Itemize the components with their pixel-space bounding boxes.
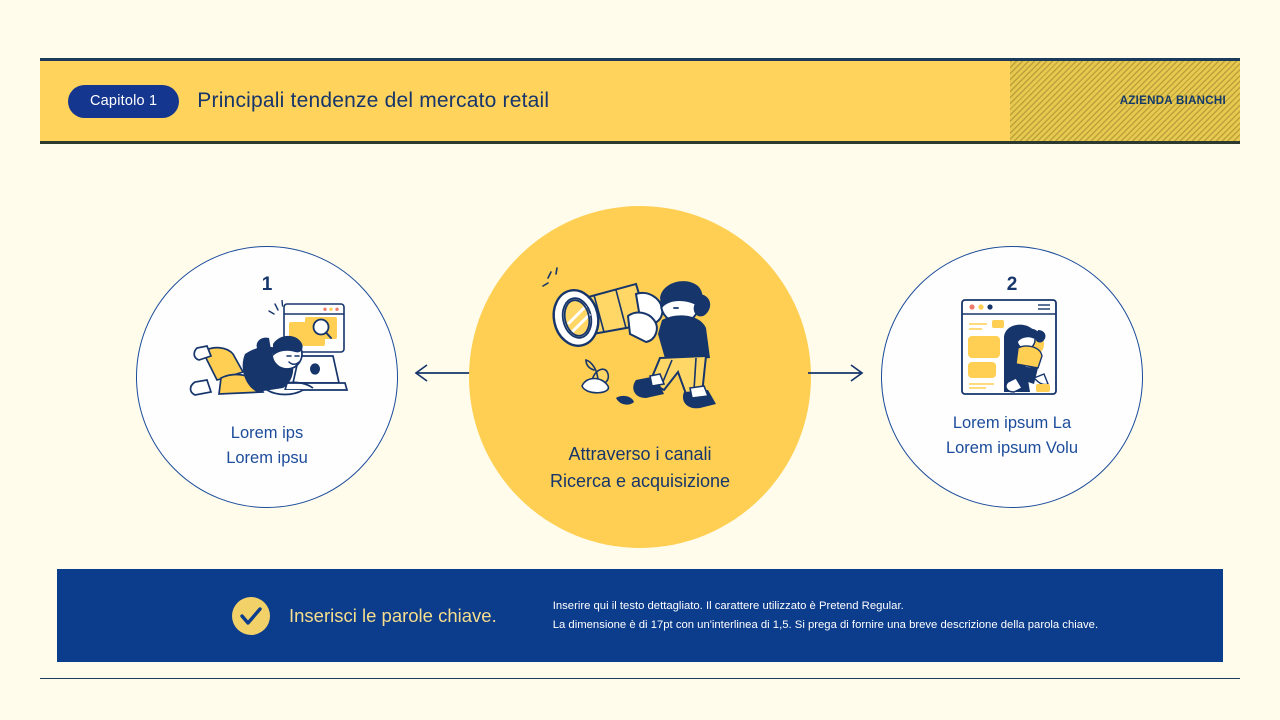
footer-divider	[40, 678, 1240, 679]
header-left-group: Capitolo 1 Principali tendenze del merca…	[68, 61, 549, 141]
brand-label: AZIENDA BIANCHI	[1120, 95, 1226, 107]
banner-heading: Inserisci le parole chiave.	[289, 605, 497, 627]
center-caption: Attraverso i canali Ricerca e acquisizio…	[550, 441, 730, 496]
banner-body-line-1: Inserire qui il testo dettagliato. Il ca…	[553, 597, 1098, 615]
check-circle-icon	[231, 596, 271, 636]
diagram-step-center[interactable]: Attraverso i canali Ricerca e acquisizio…	[469, 206, 811, 548]
page-title: Principali tendenze del mercato retail	[197, 89, 549, 113]
person-lying-with-laptop-icon	[183, 300, 351, 413]
diagram-step-2[interactable]: 2	[881, 246, 1143, 508]
header-hatch-panel: AZIENDA BIANCHI	[1010, 61, 1240, 141]
step-number: 1	[262, 275, 273, 294]
step-caption-line-1: Lorem ipsum La	[946, 411, 1078, 436]
step-caption-line-2: Lorem ipsu	[226, 446, 308, 471]
chapter-badge: Capitolo 1	[68, 85, 179, 118]
browser-window-with-people-icon	[960, 298, 1064, 403]
person-with-telescope-icon	[540, 264, 740, 429]
arrow-right-icon	[808, 362, 870, 389]
arrow-left-icon	[408, 362, 470, 389]
center-caption-line-1: Attraverso i canali	[550, 441, 730, 468]
banner-body-line-2: La dimensione è di 17pt con un'interline…	[553, 616, 1098, 634]
slide-header-bar: AZIENDA BIANCHI Capitolo 1 Principali te…	[40, 58, 1240, 144]
step-number: 2	[1007, 275, 1018, 294]
diagram-step-1[interactable]: 1	[136, 246, 398, 508]
center-caption-line-2: Ricerca e acquisizione	[550, 468, 730, 495]
keyword-banner: Inserisci le parole chiave. Inserire qui…	[57, 569, 1223, 662]
step-caption: Lorem ips Lorem ipsu	[226, 421, 308, 471]
banner-body-text: Inserire qui il testo dettagliato. Il ca…	[553, 597, 1098, 634]
step-caption: Lorem ipsum La Lorem ipsum Volu	[946, 411, 1078, 461]
step-caption-line-2: Lorem ipsum Volu	[946, 436, 1078, 461]
step-caption-line-1: Lorem ips	[226, 421, 308, 446]
